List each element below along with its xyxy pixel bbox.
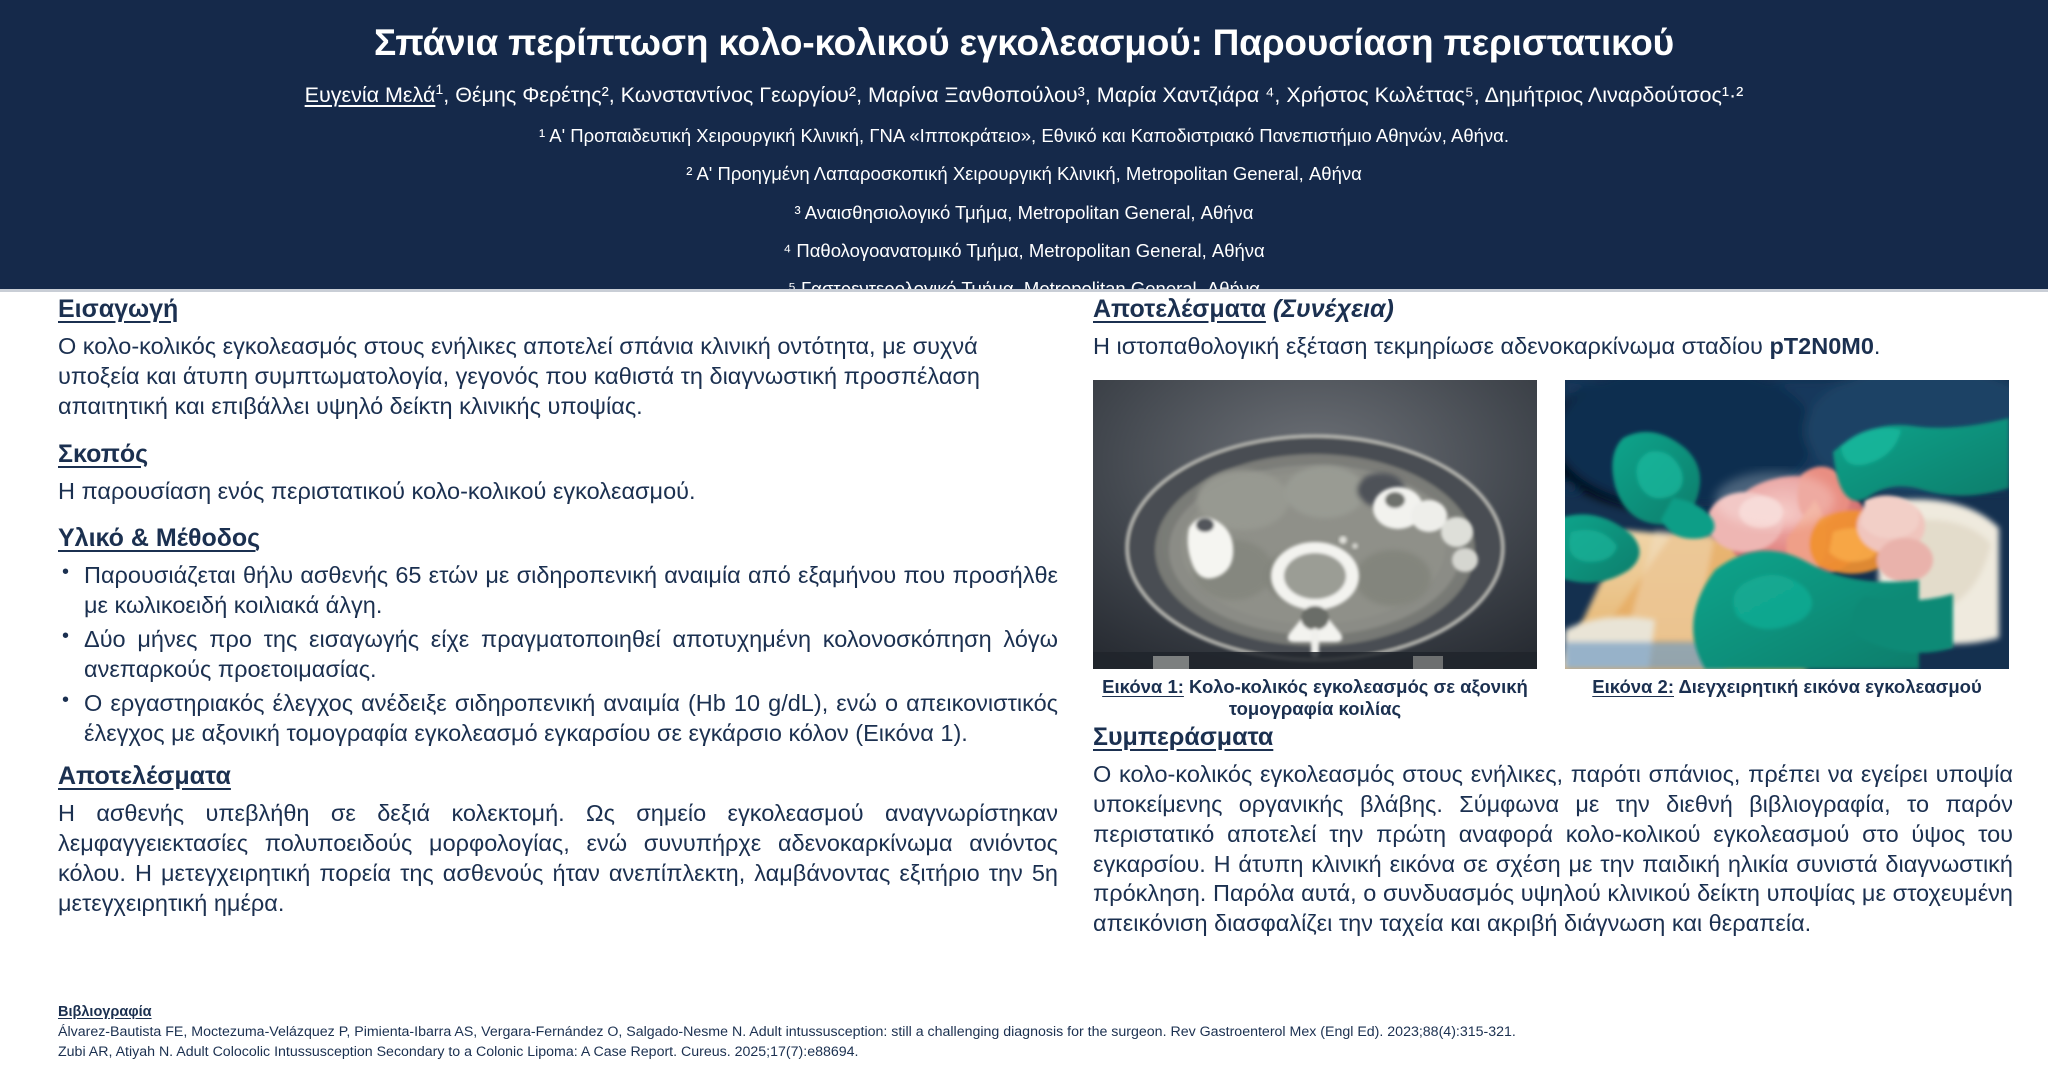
introduction-section-heading-wrap: Εισαγωγή <box>58 295 1058 332</box>
results-cont-heading-wrap: Αποτελέσματα(Συνέχεια) <box>1093 295 2013 332</box>
bibliography-section: Βιβλιογραφία Álvarez-Bautista FE, Moctez… <box>58 1003 1958 1062</box>
aim-section-heading-wrap: Σκοπός <box>58 440 1058 477</box>
histopathology-text: Η ιστοπαθολογική εξέταση τεκμηρίωσε αδεν… <box>1093 332 2013 362</box>
conclusions-section-heading-wrap: Συμπεράσματα <box>1093 723 2013 760</box>
figure-1-caption-label: Εικόνα 1: <box>1102 676 1184 697</box>
list-item: Ο εργαστηριακός έλεγχος ανέδειξε σιδηροπ… <box>58 689 1058 749</box>
intraoperative-intussusception-icon <box>1565 380 2009 669</box>
poster-body: Εισαγωγή Ο κολο-κολικός εγκολεασμός στου… <box>0 295 2048 1067</box>
conclusions-heading: Συμπεράσματα <box>1093 723 1273 752</box>
right-column: Αποτελέσματα(Συνέχεια) Η ιστοπαθολογική … <box>1093 295 2013 957</box>
results-heading: Αποτελέσματα <box>58 762 231 791</box>
figure-1-caption-text: Κολο-κολικός εγκολεασμός σε αξονική τομο… <box>1184 676 1528 720</box>
affiliation-1: ¹ Α' Προπαιδευτική Χειρουργική Κλινική, … <box>40 125 2008 147</box>
figure-2-caption: Εικόνα 2: Διεγχειρητική εικόνα εγκολεασμ… <box>1565 676 2009 699</box>
list-item: Δύο μήνες προ της εισαγωγής είχε πραγματ… <box>58 625 1058 685</box>
figure-2-block: Εικόνα 2: Διεγχειρητική εικόνα εγκολεασμ… <box>1565 380 2009 699</box>
first-author-name: Ευγενία Μελά <box>305 83 436 107</box>
figure-1-caption: Εικόνα 1: Κολο-κολικός εγκολεασμός σε αξ… <box>1093 676 1537 721</box>
affiliation-2: ² Α' Προηγμένη Λαπαροσκοπική Χειρουργική… <box>40 163 2008 185</box>
figures-row: Εικόνα 1: Κολο-κολικός εγκολεασμός σε αξ… <box>1093 380 2013 721</box>
page-title: Σπάνια περίπτωση κολο-κολικού εγκολεασμο… <box>40 22 2008 63</box>
results-text: Η ασθενής υπεβλήθη σε δεξιά κολεκτομή. Ω… <box>58 799 1058 918</box>
histopathology-text-before: Η ιστοπαθολογική εξέταση τεκμηρίωσε αδεν… <box>1093 333 1769 359</box>
introduction-text: Ο κολο-κολικός εγκολεασμός στους ενήλικε… <box>58 332 1058 422</box>
figure-2-caption-text: Διεγχειρητική εικόνα εγκολεασμού <box>1674 676 1982 697</box>
tumor-stage-value: pT2N0M0 <box>1769 333 1873 359</box>
intraoperative-photo <box>1565 380 2009 669</box>
results-continued-heading-suffix: (Συνέχεια) <box>1273 295 1394 323</box>
affiliation-3: ³ Αναισθησιολογικό Τμήμα, Metropolitan G… <box>40 202 2008 224</box>
affiliation-4: ⁴ Παθολογοανατομικό Τμήμα, Metropolitan … <box>40 240 2008 262</box>
figure-2-caption-label: Εικόνα 2: <box>1592 676 1674 697</box>
conclusions-text: Ο κολο-κολικός εγκολεασμός στους ενήλικε… <box>1093 760 2013 939</box>
bibliography-entry: Zubi AR, Atiyah N. Adult Colocolic Intus… <box>58 1042 1958 1062</box>
aim-heading: Σκοπός <box>58 440 148 469</box>
methods-heading: Υλικό & Μέθοδος <box>58 524 260 553</box>
left-column: Εισαγωγή Ο κολο-κολικός εγκολεασμός στου… <box>58 295 1058 937</box>
ct-scan-image <box>1093 380 1537 669</box>
co-authors-list: , Θέμης Φερέτης², Κωνσταντίνος Γεωργίου²… <box>443 83 1743 107</box>
histopathology-text-after: . <box>1874 333 1881 359</box>
bibliography-heading: Βιβλιογραφία <box>58 1004 152 1020</box>
methods-section-heading-wrap: Υλικό & Μέθοδος <box>58 524 1058 561</box>
ct-abdomen-axial-icon <box>1093 380 1537 669</box>
introduction-heading: Εισαγωγή <box>58 295 178 324</box>
results-section-heading-wrap: Αποτελέσματα <box>58 762 1058 799</box>
bibliography-entry: Álvarez-Bautista FE, Moctezuma-Velázquez… <box>58 1022 1958 1042</box>
header-divider-rule <box>0 289 2048 292</box>
authors-line: Ευγενία Μελά1, Θέμης Φερέτης², Κωνσταντί… <box>40 83 2008 109</box>
aim-text: Η παρουσίαση ενός περιστατικού κολο-κολι… <box>58 477 1058 507</box>
results-continued-heading: Αποτελέσματα <box>1093 295 1266 324</box>
list-item: Παρουσιάζεται θήλυ ασθενής 65 ετών με σι… <box>58 561 1058 621</box>
methods-bullet-list: Παρουσιάζεται θήλυ ασθενής 65 ετών με σι… <box>58 561 1058 748</box>
poster-header-banner: Σπάνια περίπτωση κολο-κολικού εγκολεασμο… <box>0 0 2048 292</box>
figure-1-block: Εικόνα 1: Κολο-κολικός εγκολεασμός σε αξ… <box>1093 380 1537 721</box>
